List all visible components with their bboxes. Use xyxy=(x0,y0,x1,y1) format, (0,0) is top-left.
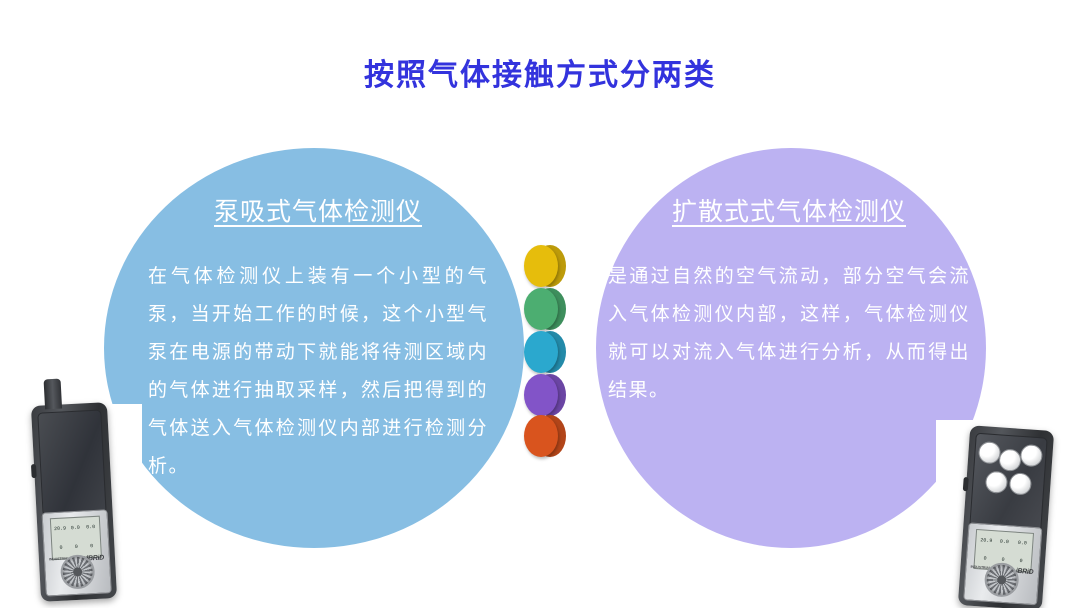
sensor-filter-icon xyxy=(1009,472,1032,495)
lcd-reading-1: 0.0 xyxy=(1000,539,1009,545)
sensor-filter-icon xyxy=(998,448,1021,471)
lcd-reading-4: 0 xyxy=(75,545,78,550)
slide-canvas: 按照气体接触方式分两类 泵吸式气体检测仪 在气体检测仪上装有一个小型的气泵，当开… xyxy=(0,0,1080,608)
lcd-reading-3: 0 xyxy=(59,546,62,551)
page-title: 按照气体接触方式分两类 xyxy=(0,50,1080,94)
dot-orange-icon xyxy=(524,415,566,457)
dot-cyan-icon xyxy=(524,331,566,373)
dot-green-icon xyxy=(524,288,566,330)
device-pump-module xyxy=(37,409,106,516)
lcd-reading-2: 0.0 xyxy=(1018,541,1027,547)
panel-heading-pump: 泵吸式气体检测仪 xyxy=(148,192,488,228)
device-image-diffusion-detector: 20.9 0.0 0.0 0 0 0 INDUSTRIAL SCIENTIFIC… xyxy=(958,425,1054,608)
device-speaker-grille-icon xyxy=(60,554,96,590)
lcd-reading-0: 20.9 xyxy=(980,538,992,544)
device-side-button xyxy=(963,477,969,491)
lcd-reading-2: 0.0 xyxy=(86,525,95,530)
panel-body-diffusion: 是通过自然的空气流动，部分空气会流入气体检测仪内部，这样，气体检测仪就可以对流入… xyxy=(608,258,970,410)
lcd-reading-3: 0 xyxy=(983,556,986,561)
panel-content-pump: 泵吸式气体检测仪 在气体检测仪上装有一个小型的气泵，当开始工作的时候，这个小型气… xyxy=(148,192,488,486)
device-lcd-screen: 20.9 0.0 0.0 0 0 0 xyxy=(50,515,102,560)
dot-yellow-icon xyxy=(524,245,566,287)
lcd-reading-0: 20.9 xyxy=(54,526,66,532)
lcd-reading-1: 0.0 xyxy=(71,526,80,531)
panel-body-pump: 在气体检测仪上装有一个小型的气泵，当开始工作的时候，这个小型气泵在电源的带动下就… xyxy=(148,258,488,486)
device-sample-probe xyxy=(44,379,63,410)
device-faceplate: 20.9 0.0 0.0 0 0 0 INDUSTRIAL SCIENTIFIC… xyxy=(963,523,1042,606)
lcd-reading-5: 0 xyxy=(90,544,93,549)
dot-purple-icon xyxy=(524,374,566,416)
device-side-button xyxy=(31,464,37,478)
device-sensor-array xyxy=(969,433,1047,533)
panel-heading-diffusion: 扩散式式气体检测仪 xyxy=(608,192,970,228)
device-image-pump-detector: 20.9 0.0 0.0 0 0 0 INDUSTRIAL SCIENTIFIC… xyxy=(31,402,117,602)
device-body: 20.9 0.0 0.0 0 0 0 INDUSTRIAL SCIENTIFIC… xyxy=(958,425,1054,608)
lcd-reading-4: 0 xyxy=(1001,557,1004,562)
lcd-reading-5: 0 xyxy=(1019,559,1022,564)
device-faceplate: 20.9 0.0 0.0 0 0 0 INDUSTRIAL SCIENTIFIC… xyxy=(41,509,111,597)
device-body: 20.9 0.0 0.0 0 0 0 INDUSTRIAL SCIENTIFIC… xyxy=(31,402,117,602)
panel-content-diffusion: 扩散式式气体检测仪 是通过自然的空气流动，部分空气会流入气体检测仪内部，这样，气… xyxy=(608,192,970,410)
sensor-filter-icon xyxy=(985,471,1008,494)
sensor-filter-icon xyxy=(1020,444,1043,467)
divider-dot-column xyxy=(524,245,574,457)
sensor-filter-icon xyxy=(978,441,1001,464)
